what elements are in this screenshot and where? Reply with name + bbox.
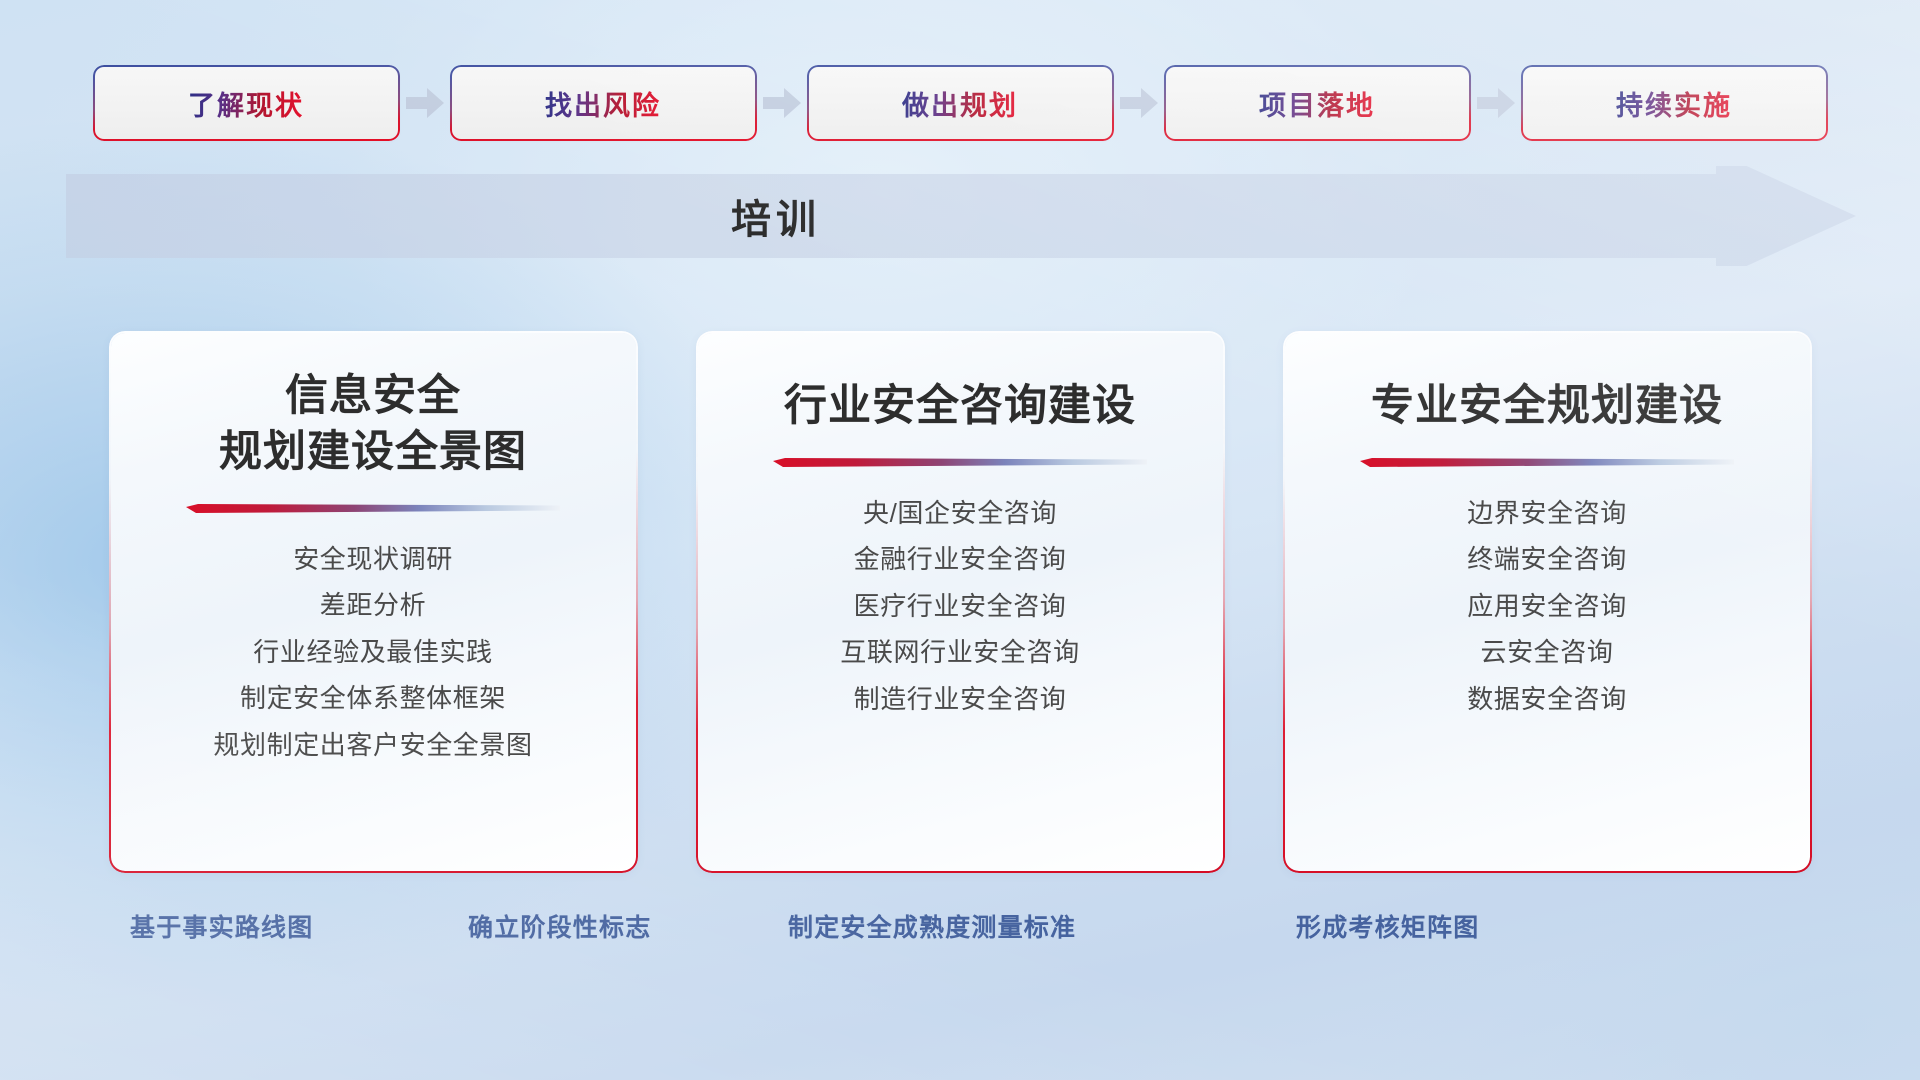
step-connector-2 (755, 67, 809, 139)
card-list-item[interactable]: 医疗行业安全咨询 (854, 586, 1067, 623)
right-arrow-icon (762, 86, 802, 120)
card-list-item[interactable]: 制定安全体系整体框架 (240, 678, 506, 715)
process-step-label: 持续实施 (1616, 84, 1732, 123)
footer-label-3: 制定安全成熟度测量标准 (788, 908, 1076, 944)
card-item-list: 安全现状调研差距分析行业经验及最佳实践制定安全体系整体框架规划制定出客户安全全景… (111, 539, 636, 762)
process-step-1[interactable]: 了解现状 (95, 67, 398, 139)
footer-label-4: 形成考核矩阵图 (1296, 908, 1479, 944)
card-title: 专业安全规划建设 (1371, 379, 1723, 435)
card-title: 行业安全咨询建设 (784, 379, 1136, 435)
card-row: 信息安全 规划建设全景图安全现状调研差距分析行业经验及最佳实践制定安全体系整体框… (0, 333, 1920, 873)
card-list-item[interactable]: 云安全咨询 (1480, 632, 1613, 669)
card-list-item[interactable]: 金融行业安全咨询 (854, 539, 1067, 576)
card-list-item[interactable]: 应用安全咨询 (1467, 586, 1627, 623)
content-card-2[interactable]: 行业安全咨询建设央/国企安全咨询金融行业安全咨询医疗行业安全咨询互联网行业安全咨… (698, 333, 1223, 871)
banner-label: 培训 (66, 166, 1486, 266)
process-step-label: 做出规划 (902, 84, 1018, 123)
card-list-item[interactable]: 终端安全咨询 (1467, 539, 1627, 576)
card-list-item[interactable]: 安全现状调研 (293, 539, 453, 576)
card-divider (1360, 457, 1734, 469)
process-step-label: 找出风险 (545, 84, 661, 123)
process-step-row: 了解现状找出风险做出规划项目落地持续实施 (0, 66, 1920, 140)
card-item-list: 边界安全咨询终端安全咨询应用安全咨询云安全咨询数据安全咨询 (1285, 493, 1810, 716)
process-step-5[interactable]: 持续实施 (1523, 67, 1826, 139)
footer-label-row: 基于事实路线图确立阶段性标志制定安全成熟度测量标准形成考核矩阵图 (0, 908, 1920, 968)
content-card-1[interactable]: 信息安全 规划建设全景图安全现状调研差距分析行业经验及最佳实践制定安全体系整体框… (111, 333, 636, 871)
card-title: 信息安全 规划建设全景图 (219, 369, 527, 481)
right-arrow-icon (1476, 86, 1516, 120)
card-list-item[interactable]: 制造行业安全咨询 (854, 679, 1067, 716)
step-connector-1 (398, 67, 452, 139)
footer-label-1: 基于事实路线图 (130, 908, 313, 944)
card-divider (186, 503, 560, 515)
step-connector-4 (1469, 67, 1523, 139)
process-step-label: 了解现状 (188, 84, 304, 123)
content-card-3[interactable]: 专业安全规划建设边界安全咨询终端安全咨询应用安全咨询云安全咨询数据安全咨询 (1285, 333, 1810, 871)
process-step-2[interactable]: 找出风险 (452, 67, 755, 139)
card-list-item[interactable]: 互联网行业安全咨询 (840, 632, 1079, 669)
slide-canvas: 了解现状找出风险做出规划项目落地持续实施 培训 信息安全 规划建设全景图安全现状… (0, 0, 1920, 1080)
process-step-label: 项目落地 (1259, 84, 1375, 123)
card-list-item[interactable]: 央/国企安全咨询 (863, 493, 1057, 530)
process-step-3[interactable]: 做出规划 (809, 67, 1112, 139)
process-step-4[interactable]: 项目落地 (1166, 67, 1469, 139)
footer-label-2: 确立阶段性标志 (468, 908, 651, 944)
step-connector-3 (1112, 67, 1166, 139)
training-banner: 培训 (66, 166, 1856, 266)
card-divider (773, 457, 1147, 469)
card-list-item[interactable]: 边界安全咨询 (1467, 493, 1627, 530)
card-item-list: 央/国企安全咨询金融行业安全咨询医疗行业安全咨询互联网行业安全咨询制造行业安全咨… (698, 493, 1223, 716)
card-list-item[interactable]: 数据安全咨询 (1467, 679, 1627, 716)
right-arrow-icon (1119, 86, 1159, 120)
right-arrow-icon (405, 86, 445, 120)
card-list-item[interactable]: 规划制定出客户安全全景图 (213, 725, 532, 762)
card-list-item[interactable]: 差距分析 (320, 585, 426, 622)
card-list-item[interactable]: 行业经验及最佳实践 (253, 632, 492, 669)
